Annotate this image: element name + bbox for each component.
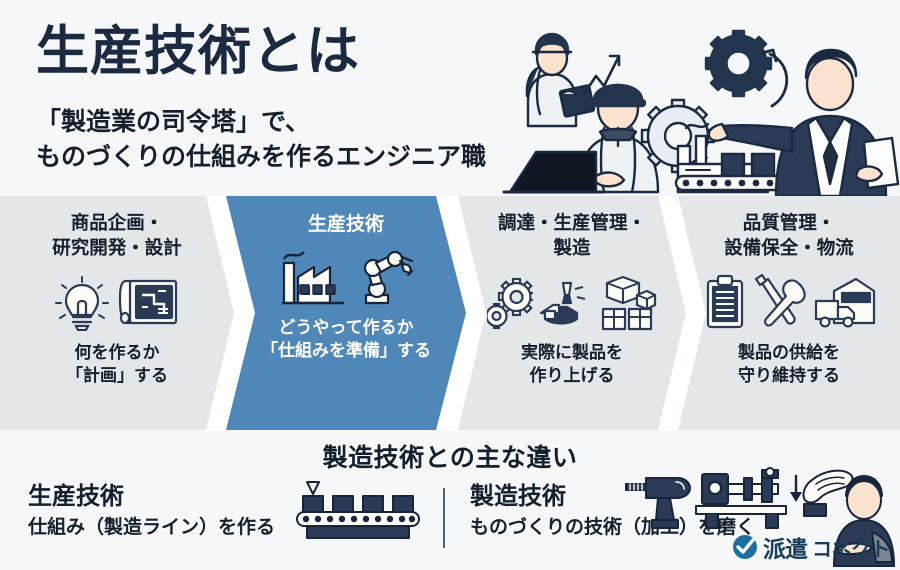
factory-icon	[276, 247, 348, 307]
comparison-left-heading: 生産技術	[28, 482, 275, 511]
flow-stage-production-engineering[interactable]: 生産技術	[226, 196, 466, 430]
polishing-hand-icon	[790, 471, 852, 516]
gear-small-dark-icon	[706, 31, 771, 96]
logo-text-kana: コネクト	[812, 533, 890, 562]
flow-stage-icons	[276, 245, 416, 309]
flow-stage-caption: どうやって作るか 「仕組みを準備」する	[261, 317, 431, 363]
flow-stage-icons	[702, 270, 876, 334]
subtitle-line-1: 「製造業の司令塔」で、	[36, 106, 486, 137]
flow-stage-heading: 品質管理・ 設備保全・物流	[724, 212, 854, 262]
boxes-icon	[597, 273, 657, 331]
hero-subtitle: 「製造業の司令塔」で、 ものづくりの仕組みを作るエンジニア職	[36, 106, 486, 173]
flow-stage-icons	[487, 270, 657, 334]
clipboard-icon	[702, 273, 748, 331]
female-engineer-figure	[527, 34, 595, 126]
comparison-left-block: 生産技術 仕組み（製造ライン）を作る	[28, 482, 275, 540]
hero-section: 生産技術とは 「製造業の司令塔」で、 ものづくりの仕組みを作るエンジニア職	[0, 0, 900, 196]
flow-stage-procurement-manufacturing[interactable]: 調達・生産管理・ 製造	[458, 196, 686, 430]
gears-icon	[487, 273, 533, 331]
robot-arm-icon	[354, 247, 416, 307]
flow-stage-caption: 実際に製品を 作り上げる	[521, 342, 623, 388]
lathe-icon	[696, 468, 786, 528]
hero-illustration	[500, 6, 900, 196]
brand-logo[interactable]: 派遣 コネクト	[732, 530, 890, 564]
page-title: 生産技術とは	[36, 24, 360, 80]
infographic-page: 生産技術とは 「製造業の司令塔」で、 ものづくりの仕組みを作るエンジニア職	[0, 0, 900, 570]
lightbulb-icon	[54, 273, 110, 331]
check-circle-icon	[732, 534, 758, 560]
highlighted-phrase: 「製造業の司令塔」	[36, 106, 261, 137]
welding-icon	[539, 273, 591, 331]
flow-stage-icons	[54, 270, 180, 334]
flow-stage-caption: 製品の供給を 守り維持する	[738, 342, 840, 388]
comparison-left-text: 仕組み（製造ライン）を作る	[28, 516, 275, 540]
subtitle-line-2: ものづくりの仕組みを作るエンジニア職	[36, 141, 486, 172]
tools-icon	[754, 273, 806, 331]
flow-stage-heading: 商品企画・ 研究開発・設計	[52, 212, 182, 262]
truck-warehouse-icon	[812, 273, 876, 331]
logo-text-kanji: 派遣	[763, 530, 807, 564]
comparison-divider	[443, 488, 445, 548]
flow-stage-planning[interactable]: 商品企画・ 研究開発・設計	[0, 196, 234, 430]
flow-stage-heading: 調達・生産管理・ 製造	[498, 212, 646, 262]
flow-stage-heading: 生産技術	[308, 212, 384, 237]
process-flow-section: 商品企画・ 研究開発・設計	[0, 196, 900, 430]
subtitle-quoted-text: 「製造業の司令塔」	[36, 107, 261, 136]
drill-icon	[626, 478, 690, 528]
conveyor-belt-icon	[295, 478, 421, 540]
flow-stage-quality-logistics[interactable]: 品質管理・ 設備保全・物流	[678, 196, 900, 430]
blueprint-icon	[116, 273, 180, 331]
flow-stage-caption: 何を作るか 「計画」する	[66, 342, 168, 388]
subtitle-tail-text: で、	[261, 107, 310, 136]
